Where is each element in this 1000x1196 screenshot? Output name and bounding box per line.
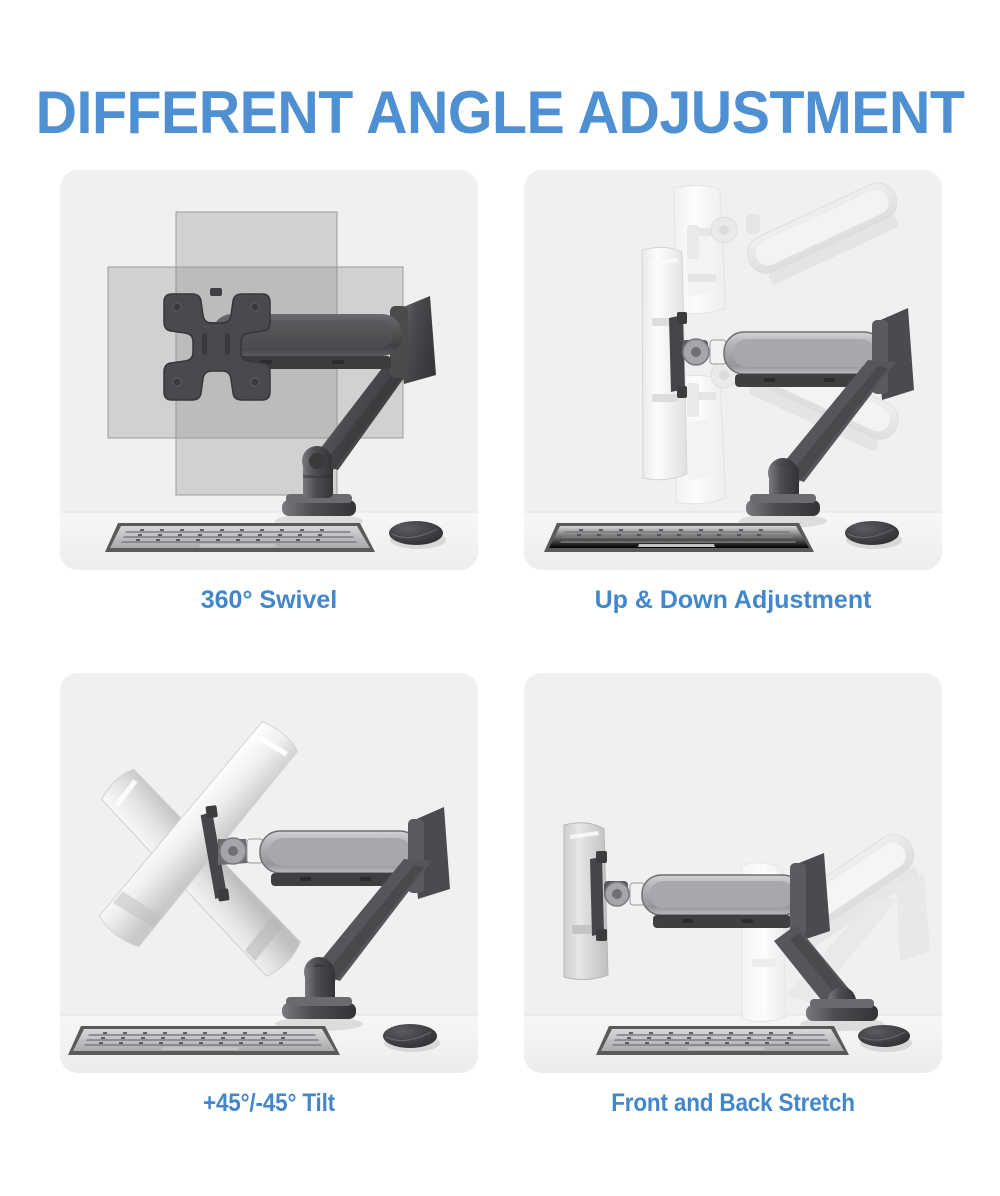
panel-image-tilt — [60, 673, 478, 1073]
feature-panel-stretch: Front and Back Stretch — [524, 673, 942, 1073]
keyboard — [68, 1026, 340, 1055]
panel-image-stretch — [524, 673, 942, 1073]
feature-panel-up-down: Up & Down Adjustment — [524, 170, 942, 570]
panel-image-up-down — [524, 170, 942, 570]
page-title: DIFFERENT ANGLE ADJUSTMENT — [23, 78, 978, 148]
keyboard — [544, 523, 814, 552]
feature-panel-grid: 360° Swivel — [60, 170, 940, 1160]
panel-caption-stretch: Front and Back Stretch — [545, 1087, 921, 1119]
panel-caption-tilt: +45°/-45° Tilt — [81, 1087, 457, 1119]
keyboard — [596, 1026, 849, 1055]
panel-image-swivel — [60, 170, 478, 570]
mouse — [858, 1025, 912, 1052]
panel-caption-up-down: Up & Down Adjustment — [524, 584, 942, 616]
keyboard — [105, 523, 375, 552]
feature-panel-tilt: +45°/-45° Tilt — [60, 673, 478, 1073]
panel-caption-swivel: 360° Swivel — [60, 584, 478, 616]
feature-panel-swivel: 360° Swivel — [60, 170, 478, 570]
